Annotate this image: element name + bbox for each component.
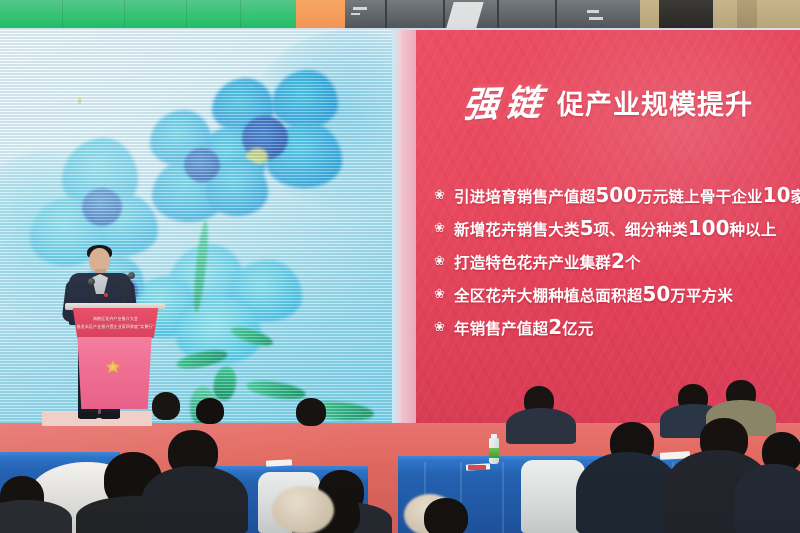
banner-title-calligraphic: 强链 (461, 85, 549, 123)
fur-collar (272, 486, 334, 533)
audience-head (196, 398, 224, 424)
white-banner-reflection (446, 2, 483, 28)
wall-orange-panel (296, 0, 345, 30)
wall-panel-seam (240, 0, 241, 30)
red-event-banner: 强链 促产业规模提升 ❀ 引进培育销售产值超500万元链上骨干企业10家 ❀ 新… (416, 30, 800, 423)
wall-panel-seam (62, 0, 63, 30)
podium-sign-line2: 推进本区产业振兴暨企业家四季度"实景行" (71, 324, 160, 329)
banner-title-bold: 促产业规模提升 (557, 92, 753, 122)
bullet-text-2: 新增花卉销售大类5项、细分种类100种以上 (454, 216, 777, 240)
bullet-text-3: 打造特色花卉产业集群2个 (454, 249, 641, 273)
audience-shoulders (506, 408, 576, 444)
wall-panel-seam (124, 0, 125, 30)
ceiling-light-reflection (587, 10, 599, 13)
bottle-cap (491, 434, 497, 438)
ceiling-light-reflection (353, 7, 367, 10)
podium-skirt (75, 337, 154, 409)
audience-shoulders (734, 464, 800, 533)
flower-icon: ❀ (434, 188, 454, 201)
microphone-icon (88, 278, 95, 285)
audience-shoulders (142, 466, 248, 533)
audience-head (152, 392, 180, 420)
flower-icon: ❀ (434, 287, 454, 300)
bullet-item: ❀ 年销售产值超2亿元 (434, 310, 800, 343)
podium-sign-line1: 海陵区花卉产业推介大会 (71, 316, 160, 321)
banner-left-edge-highlight (401, 30, 416, 423)
wall-panel-seam (186, 0, 187, 30)
bullet-text-1: 引进培育销售产值超500万元链上骨干企业10家 (454, 183, 800, 207)
bullet-item: ❀ 打造特色花卉产业集群2个 (434, 244, 800, 277)
screen-banner-seam (392, 30, 401, 423)
open-doorway (659, 0, 713, 30)
audience-head (424, 498, 468, 533)
audience-head (296, 398, 326, 426)
glass-mullion (555, 0, 557, 30)
flower-icon: ❀ (434, 254, 454, 267)
microphone-icon (128, 272, 135, 279)
bottle-label (489, 448, 499, 458)
glass-curtain-wall (345, 0, 640, 30)
ceiling-light-reflection (589, 17, 603, 20)
glass-mullion (497, 0, 499, 30)
bullet-item: ❀ 新增花卉销售大类5项、细分种类100种以上 (434, 211, 800, 244)
banner-bullet-list: ❀ 引进培育销售产值超500万元链上骨干企业10家 ❀ 新增花卉销售大类5项、细… (434, 178, 800, 343)
door-panel (737, 0, 757, 30)
bullet-text-4: 全区花卉大棚种植总面积超50万平方米 (454, 282, 733, 306)
glass-mullion (385, 0, 387, 30)
podium-front-sign: 海陵区花卉产业推介大会 推进本区产业振兴暨企业家四季度"实景行" (71, 308, 160, 338)
wall-green-panels (0, 0, 296, 30)
banner-title: 强链 促产业规模提升 (416, 86, 800, 122)
ceiling-light-reflection (351, 13, 360, 15)
glass-mullion (443, 0, 445, 30)
bullet-text-5: 年销售产值超2亿元 (454, 315, 594, 339)
flower-icon: ❀ (434, 320, 454, 333)
bullet-item: ❀ 全区花卉大棚种植总面积超50万平方米 (434, 277, 800, 310)
conference-stage-scene: 强链 促产业规模提升 ❀ 引进培育销售产值超500万元链上骨干企业10家 ❀ 新… (0, 0, 800, 533)
flower-icon: ❀ (434, 221, 454, 234)
bullet-item: ❀ 引进培育销售产值超500万元链上骨干企业10家 (434, 178, 800, 211)
background-wall (0, 0, 800, 30)
red-folder (468, 465, 486, 470)
